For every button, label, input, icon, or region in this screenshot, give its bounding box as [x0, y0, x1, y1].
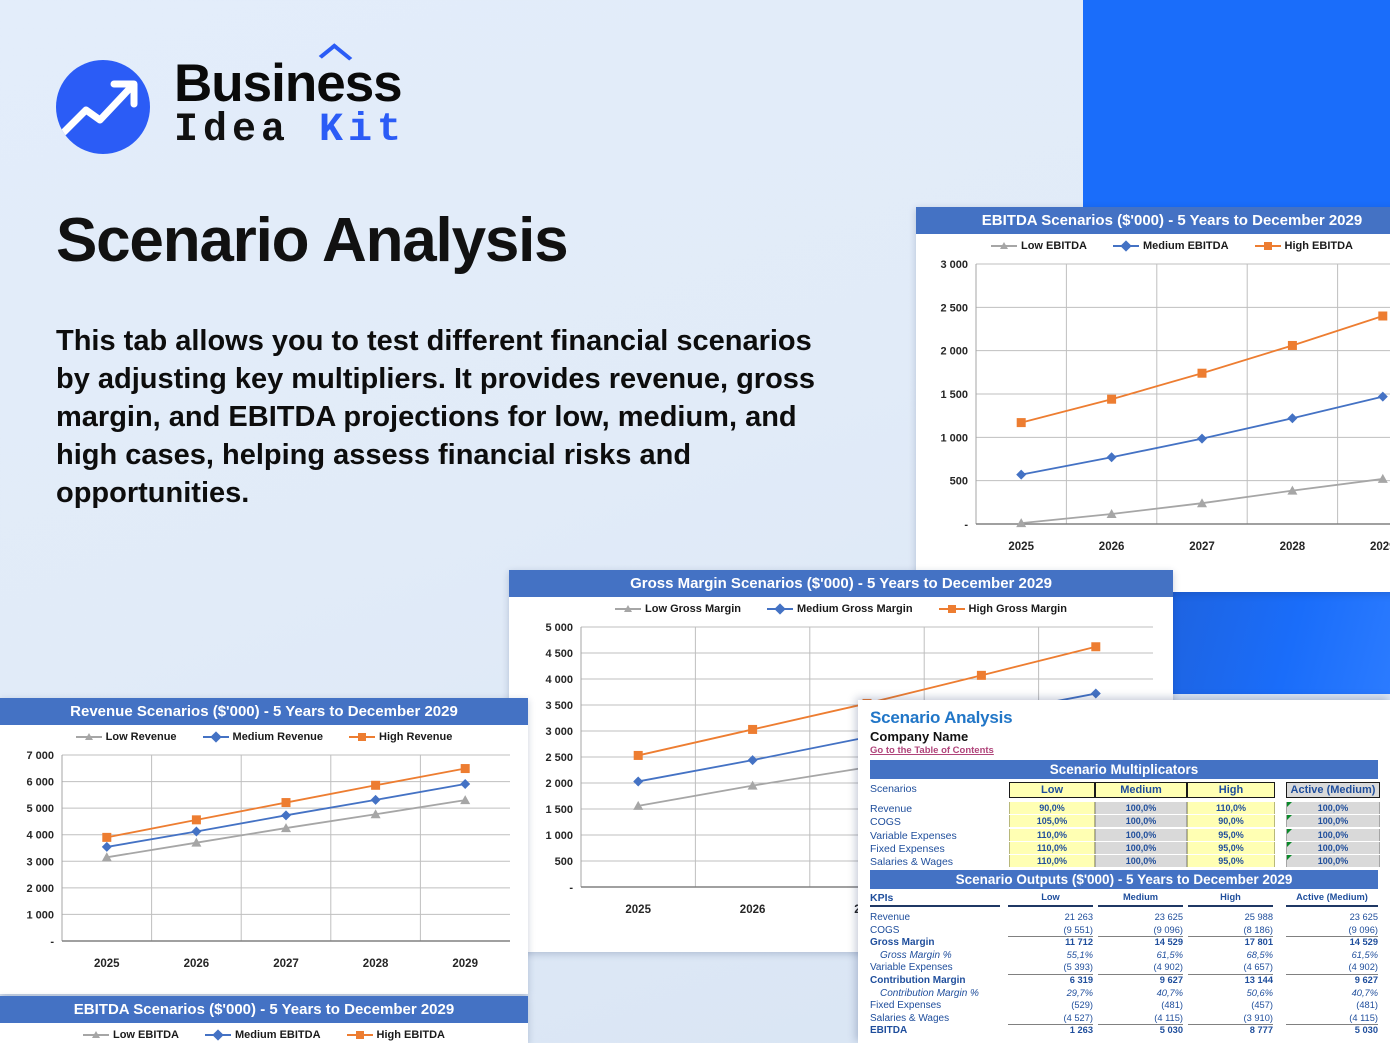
multiplicator-active-cell: 100,0%	[1286, 855, 1380, 867]
multiplicator-high-cell[interactable]: 95,0%	[1187, 842, 1275, 854]
svg-text:2029: 2029	[452, 958, 478, 970]
svg-text:2028: 2028	[363, 958, 389, 970]
multiplicator-high-cell[interactable]: 95,0%	[1187, 855, 1275, 867]
output-active-value: (4 115)	[1286, 1013, 1378, 1023]
page-description: This tab allows you to test different fi…	[56, 322, 846, 512]
svg-text:1 000: 1 000	[940, 432, 968, 444]
comment-marker-icon	[1287, 815, 1292, 820]
svg-text:2 500: 2 500	[940, 302, 968, 314]
output-high-value: 25 988	[1188, 912, 1273, 922]
output-medium-value: 23 625	[1098, 912, 1183, 922]
legend-item-high-ebitda-bottom: High EBITDA	[347, 1029, 445, 1041]
legend-item-high-ebitda-top: High EBITDA	[1255, 240, 1353, 252]
output-active-value: 40,7%	[1286, 988, 1378, 998]
outputs-col-active: Active (Medium)	[1286, 892, 1378, 902]
multiplicator-medium-cell[interactable]: 100,0%	[1095, 855, 1187, 867]
output-active-value: (9 096)	[1286, 925, 1378, 935]
svg-text:2027: 2027	[273, 958, 299, 970]
svg-text:2 500: 2 500	[545, 752, 573, 764]
output-active-value: 5 030	[1286, 1025, 1378, 1035]
output-high-value: (457)	[1188, 1000, 1273, 1010]
svg-text:2028: 2028	[1280, 541, 1306, 553]
output-medium-value: (4 902)	[1098, 962, 1183, 972]
output-high-value: (8 186)	[1188, 925, 1273, 935]
chart-card-revenue: Revenue Scenarios ($'000) - 5 Years to D…	[0, 698, 528, 994]
output-high-value: 50,6%	[1188, 988, 1273, 998]
brand-word-kit: Kit	[319, 108, 406, 153]
output-medium-value: 5 030	[1098, 1025, 1183, 1035]
svg-text:2025: 2025	[1008, 541, 1034, 553]
legend-item-low-revenue: Low Revenue	[76, 731, 177, 743]
multiplicator-medium-cell[interactable]: 100,0%	[1095, 815, 1187, 827]
svg-text:5 000: 5 000	[26, 803, 54, 815]
svg-text:3 000: 3 000	[26, 856, 54, 868]
chart-title-gross-margin: Gross Margin Scenarios ($'000) - 5 Years…	[509, 570, 1173, 597]
output-row-label: Salaries & Wages	[870, 1013, 949, 1024]
brand-name-primary: Business	[174, 54, 402, 113]
output-active-value: (4 902)	[1286, 962, 1378, 972]
svg-text:2029: 2029	[1370, 541, 1390, 553]
svg-text:-: -	[964, 519, 968, 531]
output-low-value: 1 263	[1008, 1025, 1093, 1035]
output-high-value: 8 777	[1188, 1025, 1273, 1035]
output-high-value: (3 910)	[1188, 1013, 1273, 1023]
svg-text:2 000: 2 000	[26, 883, 54, 895]
output-medium-value: 14 529	[1098, 937, 1183, 947]
chart-title-revenue: Revenue Scenarios ($'000) - 5 Years to D…	[0, 698, 528, 725]
output-active-value: 61,5%	[1286, 950, 1378, 960]
legend-item-medium-ebitda-top: Medium EBITDA	[1113, 240, 1229, 252]
output-high-value: 17 801	[1188, 937, 1273, 947]
legend-item-medium-revenue: Medium Revenue	[203, 731, 323, 743]
chart-legend-ebitda-top: Low EBITDA Medium EBITDA High EBITDA	[916, 234, 1390, 254]
brand-word-idea: Idea	[174, 108, 290, 153]
trending-up-arrow-icon	[56, 60, 150, 154]
svg-text:2026: 2026	[1099, 541, 1125, 553]
svg-text:1 500: 1 500	[940, 389, 968, 401]
svg-text:3 000: 3 000	[940, 259, 968, 271]
outputs-col-medium: Medium	[1098, 892, 1183, 902]
output-medium-value: 40,7%	[1098, 988, 1183, 998]
multiplicator-active-cell: 100,0%	[1286, 802, 1380, 814]
svg-text:4 000: 4 000	[26, 830, 54, 842]
output-active-value: 14 529	[1286, 937, 1378, 947]
svg-text:1 000: 1 000	[545, 830, 573, 842]
svg-text:2 000: 2 000	[940, 346, 968, 358]
svg-text:1 500: 1 500	[545, 804, 573, 816]
svg-text:2025: 2025	[94, 958, 120, 970]
svg-text:7 000: 7 000	[26, 750, 54, 762]
svg-text:2025: 2025	[625, 904, 651, 916]
multiplicators-col-high: High	[1187, 782, 1275, 798]
output-row-label: COGS	[870, 925, 899, 936]
outputs-col-high: High	[1188, 892, 1273, 902]
page-title: Scenario Analysis	[56, 205, 567, 276]
legend-item-medium-ebitda-bottom: Medium EBITDA	[205, 1029, 321, 1041]
legend-item-medium-gross-margin: Medium Gross Margin	[767, 603, 913, 615]
comment-marker-icon	[1287, 842, 1292, 847]
multiplicators-col-medium: Medium	[1095, 782, 1187, 798]
multiplicator-row-label: Salaries & Wages	[870, 856, 953, 868]
multiplicator-medium-cell[interactable]: 100,0%	[1095, 829, 1187, 841]
output-low-value: (9 551)	[1008, 925, 1093, 935]
chart-plot-ebitda-top: -5001 0001 5002 0002 5003 00020252026202…	[916, 254, 1390, 574]
output-low-value: (4 527)	[1008, 1013, 1093, 1023]
output-high-value: 68,5%	[1188, 950, 1273, 960]
svg-text:5 000: 5 000	[545, 622, 573, 634]
svg-text:2027: 2027	[1189, 541, 1215, 553]
output-low-value: 55,1%	[1008, 950, 1093, 960]
multiplicator-medium-cell[interactable]: 100,0%	[1095, 802, 1187, 814]
table-of-contents-link[interactable]: Go to the Table of Contents	[870, 745, 994, 756]
svg-text:2026: 2026	[184, 958, 210, 970]
multiplicator-low-cell[interactable]: 110,0%	[1009, 842, 1095, 854]
output-medium-value: 9 627	[1098, 975, 1183, 985]
output-low-value: 6 319	[1008, 975, 1093, 985]
outputs-col-low: Low	[1008, 892, 1093, 902]
multiplicator-low-cell[interactable]: 105,0%	[1009, 815, 1095, 827]
multiplicator-high-cell[interactable]: 95,0%	[1187, 829, 1275, 841]
output-row-label: Variable Expenses	[870, 962, 953, 973]
output-low-value: (529)	[1008, 1000, 1093, 1010]
output-active-value: (481)	[1286, 1000, 1378, 1010]
comment-marker-icon	[1287, 829, 1292, 834]
sheet-company-name: Company Name	[870, 729, 968, 744]
legend-item-high-gross-margin: High Gross Margin	[939, 603, 1067, 615]
multiplicator-medium-cell[interactable]: 100,0%	[1095, 842, 1187, 854]
multiplicator-row-label: Fixed Expenses	[870, 843, 945, 855]
multiplicator-active-cell: 100,0%	[1286, 815, 1380, 827]
output-row-label: EBITDA	[870, 1025, 907, 1036]
chart-title-ebitda-top: EBITDA Scenarios ($'000) - 5 Years to De…	[916, 207, 1390, 234]
output-row-label: Fixed Expenses	[870, 1000, 941, 1011]
multiplicator-low-cell[interactable]: 110,0%	[1009, 829, 1095, 841]
band-scenario-outputs: Scenario Outputs ($'000) - 5 Years to De…	[870, 870, 1378, 889]
svg-text:6 000: 6 000	[26, 777, 54, 789]
comment-marker-icon	[1287, 855, 1292, 860]
chart-legend-gross-margin: Low Gross Margin Medium Gross Margin Hig…	[509, 597, 1173, 617]
output-medium-value: (4 115)	[1098, 1013, 1183, 1023]
multiplicator-row-label: COGS	[870, 816, 901, 828]
legend-item-low-gross-margin: Low Gross Margin	[615, 603, 741, 615]
multiplicators-row-header: Scenarios	[870, 783, 917, 795]
multiplicator-row-label: Variable Expenses	[870, 830, 957, 842]
chart-card-ebitda-top: EBITDA Scenarios ($'000) - 5 Years to De…	[916, 207, 1390, 592]
output-row-label: Revenue	[870, 912, 910, 923]
output-high-value: (4 657)	[1188, 962, 1273, 972]
output-low-value: 21 263	[1008, 912, 1093, 922]
chart-plot-revenue: -1 0002 0003 0004 0005 0006 0007 0002025…	[0, 745, 528, 983]
legend-item-low-ebitda-bottom: Low EBITDA	[83, 1029, 179, 1041]
output-medium-value: 61,5%	[1098, 950, 1183, 960]
output-low-value: 29,7%	[1008, 988, 1093, 998]
chart-card-ebitda-bottom: EBITDA Scenarios ($'000) - 5 Years to De…	[0, 996, 528, 1043]
comment-marker-icon	[1287, 802, 1292, 807]
chart-legend-ebitda-bottom: Low EBITDA Medium EBITDA High EBITDA	[0, 1023, 528, 1043]
multiplicator-low-cell[interactable]: 90,0%	[1009, 802, 1095, 814]
svg-text:2026: 2026	[740, 904, 766, 916]
output-row-label: Gross Margin %	[870, 950, 952, 961]
svg-text:500: 500	[555, 856, 573, 868]
svg-text:500: 500	[950, 476, 968, 488]
multiplicators-col-active: Active (Medium)	[1286, 782, 1380, 798]
svg-text:3 000: 3 000	[545, 726, 573, 738]
band-scenario-multiplicators: Scenario Multiplicators	[870, 760, 1378, 779]
output-medium-value: (9 096)	[1098, 925, 1183, 935]
output-low-value: (5 393)	[1008, 962, 1093, 972]
scenario-analysis-sheet: Scenario Analysis Company Name Go to the…	[858, 700, 1390, 1043]
brand-logo: Business Idea Kit	[56, 60, 476, 152]
svg-text:-: -	[50, 936, 54, 948]
legend-item-low-ebitda-top: Low EBITDA	[991, 240, 1087, 252]
output-low-value: 11 712	[1008, 937, 1093, 947]
svg-text:4 500: 4 500	[545, 648, 573, 660]
svg-text:2 000: 2 000	[545, 778, 573, 790]
multiplicator-high-cell[interactable]: 110,0%	[1187, 802, 1275, 814]
chart-title-ebitda-bottom: EBITDA Scenarios ($'000) - 5 Years to De…	[0, 996, 528, 1023]
output-active-value: 9 627	[1286, 975, 1378, 985]
output-active-value: 23 625	[1286, 912, 1378, 922]
multiplicator-low-cell[interactable]: 110,0%	[1009, 855, 1095, 867]
output-row-label: Contribution Margin %	[870, 988, 979, 999]
svg-text:1 000: 1 000	[26, 909, 54, 921]
output-medium-value: (481)	[1098, 1000, 1183, 1010]
output-row-label: Gross Margin	[870, 937, 934, 948]
multiplicator-active-cell: 100,0%	[1286, 842, 1380, 854]
outputs-row-header: KPIs	[870, 892, 893, 904]
decorative-blue-block-top	[1083, 0, 1390, 207]
legend-item-high-revenue: High Revenue	[349, 731, 452, 743]
sheet-heading: Scenario Analysis	[870, 708, 1012, 728]
svg-text:-: -	[569, 882, 573, 894]
multiplicators-col-low: Low	[1009, 782, 1095, 798]
multiplicator-high-cell[interactable]: 90,0%	[1187, 815, 1275, 827]
svg-text:3 500: 3 500	[545, 700, 573, 712]
chart-legend-revenue: Low Revenue Medium Revenue High Revenue	[0, 725, 528, 745]
output-row-label: Contribution Margin	[870, 975, 966, 986]
decorative-blue-block-middle	[1169, 592, 1390, 694]
output-high-value: 13 144	[1188, 975, 1273, 985]
svg-text:4 000: 4 000	[545, 674, 573, 686]
multiplicator-active-cell: 100,0%	[1286, 829, 1380, 841]
multiplicator-row-label: Revenue	[870, 803, 912, 815]
